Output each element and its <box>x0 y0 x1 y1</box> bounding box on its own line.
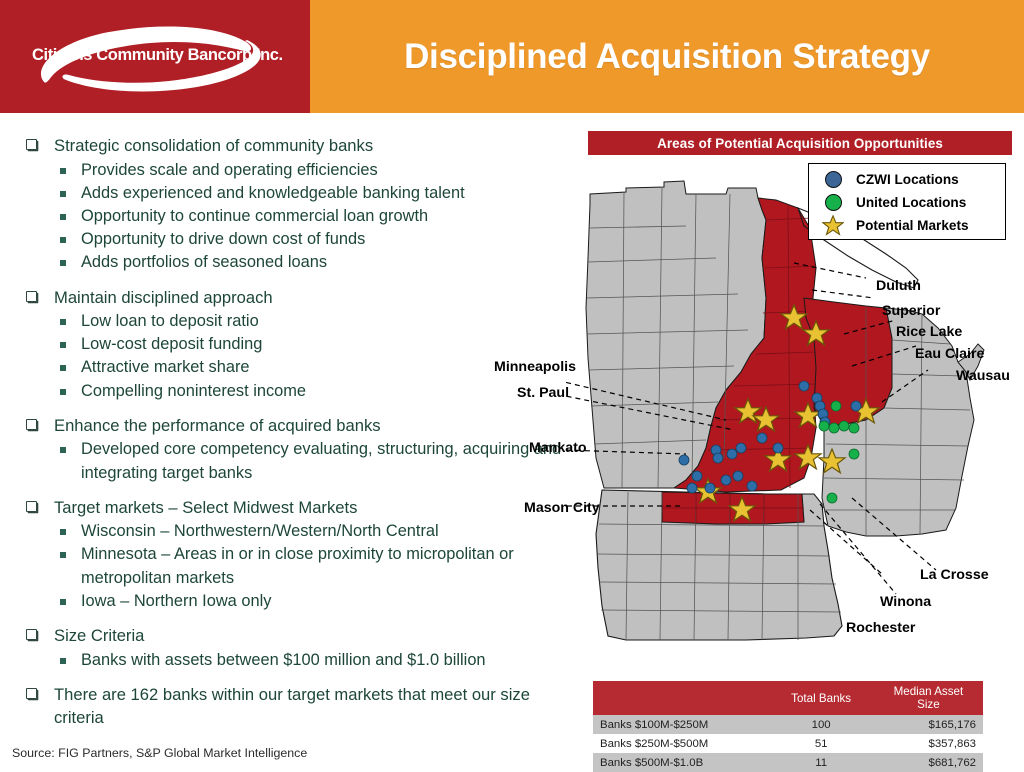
checkbox-bullet-icon <box>26 501 37 512</box>
bullet-level1: There are 162 banks within our target ma… <box>14 683 562 730</box>
city-label-winona: Winona <box>880 594 931 610</box>
bullet-group: There are 162 banks within our target ma… <box>14 683 562 730</box>
legend-item-potential: Potential Markets <box>809 214 1005 237</box>
logo-text: Citizens Community Bancorp Inc. <box>32 46 292 65</box>
table-row: Banks $250M-$500M51$357,863 <box>593 734 983 753</box>
table-cell-median-asset-size: $681,762 <box>874 753 983 772</box>
bullet-level1-text: Target markets – Select Midwest Markets <box>54 498 357 517</box>
map-banner-title: Areas of Potential Acquisition Opportuni… <box>588 131 1012 155</box>
table-cell-label: Banks $250M-$500M <box>593 734 769 753</box>
legend-label-united: United Locations <box>856 195 966 210</box>
bullet-level2: Adds experienced and knowledgeable banki… <box>14 182 562 205</box>
map-legend: CZWI Locations United Locations Potentia… <box>808 163 1006 240</box>
bullet-level2: Adds portfolios of seasoned loans <box>14 251 562 274</box>
square-bullet-icon <box>60 389 66 395</box>
city-label-mason-city: Mason City <box>524 500 600 516</box>
checkbox-bullet-icon <box>26 291 37 302</box>
col-header-blank <box>593 681 769 715</box>
square-bullet-icon <box>60 599 66 605</box>
bullet-level2: Opportunity to continue commercial loan … <box>14 205 562 228</box>
checkbox-bullet-icon <box>26 688 37 699</box>
bullet-level2-text: Banks with assets between $100 million a… <box>81 651 486 669</box>
checkbox-bullet-icon <box>26 419 37 430</box>
square-bullet-icon <box>60 214 66 220</box>
green-circle-icon <box>818 194 848 211</box>
bullet-level2-text: Provides scale and operating efficiencie… <box>81 161 378 179</box>
square-bullet-icon <box>60 168 66 174</box>
legend-item-czwi: CZWI Locations <box>809 168 1005 191</box>
page-title: Disciplined Acquisition Strategy <box>310 0 1024 113</box>
bullet-level1-text: Enhance the performance of acquired bank… <box>54 416 381 435</box>
square-bullet-icon <box>60 319 66 325</box>
bullet-group: Strategic consolidation of community ban… <box>14 134 562 275</box>
square-bullet-icon <box>60 260 66 266</box>
city-label-st-paul: St. Paul <box>517 385 569 401</box>
city-label-rice-lake: Rice Lake <box>896 324 962 340</box>
city-label-la-crosse: La Crosse <box>920 567 989 583</box>
source-note: Source: FIG Partners, S&P Global Market … <box>12 746 307 760</box>
bullet-level2-text: Opportunity to drive down cost of funds <box>81 230 365 248</box>
bullet-level2: Wisconsin – Northwestern/Western/North C… <box>14 520 562 543</box>
square-bullet-icon <box>60 365 66 371</box>
bullet-level2-text: Attractive market share <box>81 358 250 376</box>
square-bullet-icon <box>60 552 66 558</box>
bullet-level2-text: Low-cost deposit funding <box>81 335 262 353</box>
checkbox-bullet-icon <box>26 629 37 640</box>
bullet-level2-text: Minnesota – Areas in or in close proximi… <box>81 545 514 586</box>
bullet-level2: Provides scale and operating efficiencie… <box>14 159 562 182</box>
table-cell-median-asset-size: $165,176 <box>874 715 983 734</box>
col-header-total-banks: Total Banks <box>769 681 874 715</box>
square-bullet-icon <box>60 342 66 348</box>
bullet-group: Enhance the performance of acquired bank… <box>14 414 562 485</box>
bullet-level2: Low-cost deposit funding <box>14 333 562 356</box>
table-cell-label: Banks $100M-$250M <box>593 715 769 734</box>
square-bullet-icon <box>60 237 66 243</box>
city-label-superior: Superior <box>882 303 940 319</box>
table-cell-total-banks: 100 <box>769 715 874 734</box>
bullet-level2-text: Adds portfolios of seasoned loans <box>81 253 327 271</box>
bullet-level2-text: Iowa – Northern Iowa only <box>81 592 271 610</box>
slide-header: Citizens Community Bancorp Inc. Discipli… <box>0 0 1024 113</box>
bullet-level2-text: Wisconsin – Northwestern/Western/North C… <box>81 522 439 540</box>
table-cell-median-asset-size: $357,863 <box>874 734 983 753</box>
city-label-eau-claire: Eau Claire <box>915 346 984 362</box>
bullet-level2-text: Adds experienced and knowledgeable banki… <box>81 184 465 202</box>
gold-star-icon <box>818 215 848 237</box>
company-logo: Citizens Community Bancorp Inc. <box>14 20 299 95</box>
bullet-level1-text: Maintain disciplined approach <box>54 288 273 307</box>
city-label-wausau: Wausau <box>956 368 1010 384</box>
bullet-level1-text: Size Criteria <box>54 626 144 645</box>
bullet-level2-text: Low loan to deposit ratio <box>81 312 259 330</box>
table-header-row: Total Banks Median Asset Size <box>593 681 983 715</box>
bullet-level2: Compelling noninterest income <box>14 380 562 403</box>
square-bullet-icon <box>60 191 66 197</box>
city-label-minneapolis: Minneapolis <box>494 359 576 375</box>
table-cell-total-banks: 11 <box>769 753 874 772</box>
table-row: Banks $100M-$250M100$165,176 <box>593 715 983 734</box>
square-bullet-icon <box>60 529 66 535</box>
legend-label-czwi: CZWI Locations <box>856 172 959 187</box>
bullet-level2: Low loan to deposit ratio <box>14 310 562 333</box>
bullet-level2-text: Compelling noninterest income <box>81 382 306 400</box>
bullet-level1: Maintain disciplined approach <box>14 286 562 310</box>
bullet-level2: Opportunity to drive down cost of funds <box>14 228 562 251</box>
city-label-rochester: Rochester <box>846 620 915 636</box>
bullet-level1: Size Criteria <box>14 624 562 648</box>
bullet-group: Maintain disciplined approachLow loan to… <box>14 286 562 403</box>
city-label-mankato: Mankato <box>529 440 587 456</box>
square-bullet-icon <box>60 658 66 664</box>
bullet-level1-text: Strategic consolidation of community ban… <box>54 136 373 155</box>
checkbox-bullet-icon <box>26 139 37 150</box>
bullet-level2: Banks with assets between $100 million a… <box>14 649 562 672</box>
bullet-level1: Strategic consolidation of community ban… <box>14 134 562 158</box>
bullet-level2-text: Opportunity to continue commercial loan … <box>81 207 428 225</box>
city-label-duluth: Duluth <box>876 278 921 294</box>
bullet-level2: Minnesota – Areas in or in close proximi… <box>14 543 562 589</box>
legend-label-potential: Potential Markets <box>856 218 969 233</box>
bullet-level1: Enhance the performance of acquired bank… <box>14 414 562 438</box>
table-cell-label: Banks $500M-$1.0B <box>593 753 769 772</box>
bullet-group: Size CriteriaBanks with assets between $… <box>14 624 562 672</box>
bullet-content: Strategic consolidation of community ban… <box>14 134 562 744</box>
bullet-level1: Target markets – Select Midwest Markets <box>14 496 562 520</box>
square-bullet-icon <box>60 447 66 453</box>
bullet-group: Target markets – Select Midwest MarketsW… <box>14 496 562 613</box>
bullet-level2: Attractive market share <box>14 356 562 379</box>
bullet-level1-text: There are 162 banks within our target ma… <box>54 685 530 728</box>
bullet-level2: Iowa – Northern Iowa only <box>14 590 562 613</box>
bank-size-table: Total Banks Median Asset Size Banks $100… <box>593 681 983 772</box>
blue-circle-icon <box>818 171 848 188</box>
table-cell-total-banks: 51 <box>769 734 874 753</box>
col-header-median-asset: Median Asset Size <box>874 681 983 715</box>
table-row: Banks $500M-$1.0B11$681,762 <box>593 753 983 772</box>
bullet-level2: Developed core competency evaluating, st… <box>14 438 562 484</box>
legend-item-united: United Locations <box>809 191 1005 214</box>
bullet-level2-text: Developed core competency evaluating, st… <box>81 440 561 481</box>
